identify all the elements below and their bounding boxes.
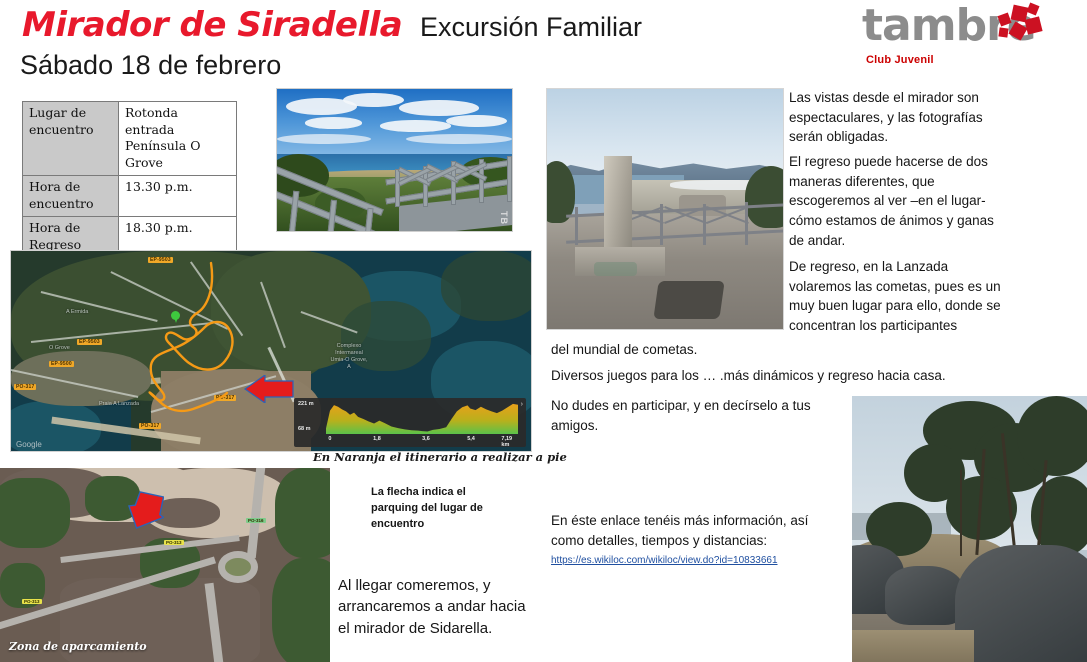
parking-aerial-photo: PO-313 PO-316 PO-313 Zona de aparcamient… [0,468,330,662]
mirador-monument-photo [546,88,784,330]
elevation-x-tick: 0 [328,436,331,442]
body-paragraph-2: El regreso puede hacerse de dos maneras … [789,152,1004,251]
body-paragraph-3: De regreso, en la Lanzada volaremos las … [789,257,1009,336]
elevation-profile-chart: 221 m 68 m › 0 1,8 3,6 5,4 7,19 km [294,398,526,447]
elevation-x-axis: 0 1,8 3,6 5,4 7,19 km [326,436,522,445]
aerial-road-label: PO-313 [164,540,184,545]
body-paragraph-1: Las vistas desde el mirador son espectac… [789,88,1004,147]
wikiloc-link[interactable]: https://es.wikiloc.com/wikiloc/view.do?i… [551,555,778,566]
table-cell-value: Rotonda entrada Península O Grove [119,102,237,176]
link-intro-text: En éste enlace tenéis más información, a… [551,511,841,550]
aerial-road-label: PO-313 [22,599,42,604]
body-paragraph-6: No dudes en participar, y en decírselo a… [551,396,831,435]
photo-watermark: TB [499,211,509,225]
aerial-road-label: PO-316 [246,518,266,523]
arrow-explanation-caption: La flecha indica el parquing del lugar d… [371,485,511,533]
elevation-x-tick: 5,4 [467,436,475,442]
route-satellite-map[interactable]: EP-9503 EP-9503 EP-9500 PO-317 PO-317 PO… [10,250,532,452]
table-cell-label: Lugar de encuentro [23,102,119,176]
roundabout-shape [218,551,258,583]
map-caption: En Naranja el itinerario a realizar a pi… [313,450,567,464]
elevation-y-max: 221 m [298,401,314,407]
map-attribution: Google [16,440,42,449]
tambre-logo: tambre Club Juvenil [862,4,1062,72]
puzzle-piece-icon [998,27,1008,37]
logo-wordmark: tambre [862,0,1036,51]
map-red-arrow-icon [243,375,295,403]
chevron-right-icon[interactable]: › [521,401,523,408]
event-date: Sábado 18 de febrero [20,50,281,81]
table-cell-value: 13.30 p.m. [119,176,237,217]
mirador-boardwalk-photo: TB [276,88,513,232]
wikiloc-link-block: En éste enlace tenéis más información, a… [551,511,841,568]
elevation-y-min: 68 m [298,426,311,432]
table-row: Hora de encuentro 13.30 p.m. [23,176,237,217]
lunch-caption: Al llegar comeremos, y arrancaremos a an… [338,575,528,639]
elevation-plot-area [326,402,518,434]
body-paragraph-4: del mundial de cometas. [551,340,1011,360]
page-subtitle: Excursión Familiar [420,12,642,43]
logo-tagline: Club Juvenil [866,54,934,66]
meeting-info-table: Lugar de encuentro Rotonda entrada Penín… [22,101,237,258]
elevation-x-tick: 1,8 [373,436,381,442]
elevation-x-tick: 7,19 km [501,436,515,448]
parking-zone-caption: Zona de aparcamiento [9,640,147,653]
puzzle-piece-icon [1024,16,1042,34]
elevation-x-tick: 3,6 [422,436,430,442]
map-start-marker [171,311,180,323]
page-title: Mirador de Siradella [22,5,402,45]
body-paragraph-5: Diversos juegos para los … .más dinámico… [551,366,1011,386]
table-row: Lugar de encuentro Rotonda entrada Penín… [23,102,237,176]
granite-boulders-photo [852,396,1087,662]
aerial-red-arrow-icon [122,491,164,533]
table-cell-label: Hora de encuentro [23,176,119,217]
